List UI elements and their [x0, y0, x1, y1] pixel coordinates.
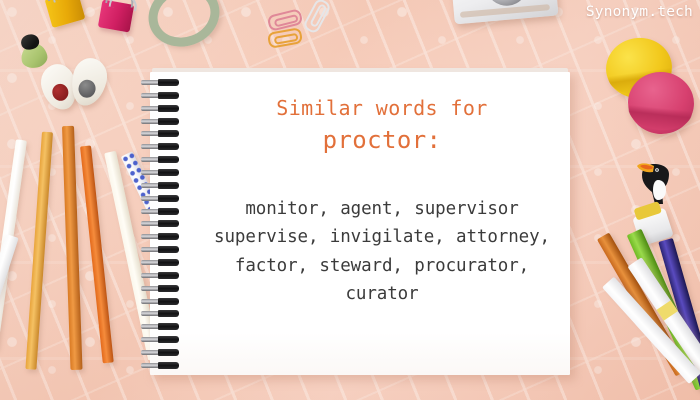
- page-heading: Similar words for: [194, 96, 570, 121]
- spiral-ring: [141, 350, 181, 355]
- spiral-ring: [141, 183, 181, 188]
- spiral-ring: [141, 260, 181, 265]
- spiral-ring: [141, 299, 181, 304]
- spiral-ring: [141, 144, 181, 149]
- spiral-binding: [141, 80, 185, 368]
- spiral-ring: [141, 363, 181, 368]
- spiral-ring: [141, 170, 181, 175]
- spiral-ring: [141, 273, 181, 278]
- spiral-ring: [141, 337, 181, 342]
- spiral-ring: [141, 157, 181, 162]
- page-content: Similar words for proctor: monitor, agen…: [194, 70, 570, 373]
- query-term: proctor:: [194, 125, 570, 155]
- spiral-ring: [141, 80, 181, 85]
- spiral-ring: [141, 119, 181, 124]
- spiral-ring: [141, 324, 181, 329]
- spiral-ring: [141, 286, 181, 291]
- spiral-ring: [141, 93, 181, 98]
- camera-grip: [460, 4, 550, 18]
- toucan-figurine-icon: [636, 150, 680, 208]
- binder-clip-pink-icon: [98, 0, 134, 33]
- spiral-ring: [141, 247, 181, 252]
- spiral-ring: [141, 131, 181, 136]
- spiral-ring: [141, 311, 181, 316]
- spiral-ring: [141, 106, 181, 111]
- site-watermark: Synonym.tech: [586, 4, 693, 20]
- spiral-ring: [141, 209, 181, 214]
- synonym-list: monitor, agent, supervisor supervise, in…: [194, 195, 570, 308]
- spiral-ring: [141, 234, 181, 239]
- spiral-ring: [141, 196, 181, 201]
- screenshot-stage: Similar words for proctor: monitor, agen…: [0, 0, 700, 400]
- spiral-ring: [141, 221, 181, 226]
- spiral-notebook: Similar words for proctor: monitor, agen…: [150, 70, 571, 377]
